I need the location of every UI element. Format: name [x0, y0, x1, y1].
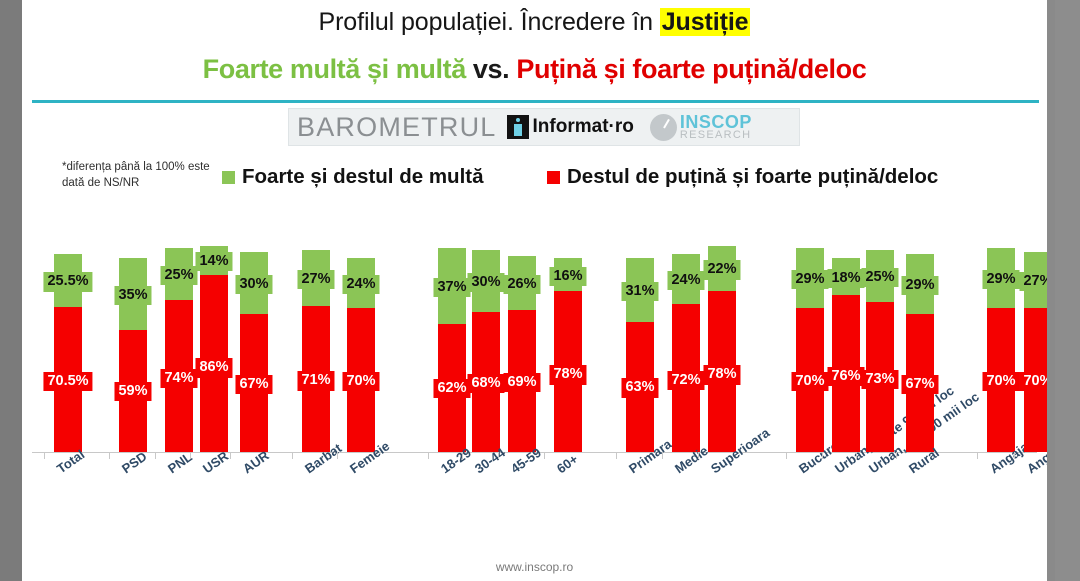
inscop-logo-primary: INSCOP: [680, 114, 752, 131]
value-label-green: 29%: [901, 276, 938, 295]
barometrul-logo-text: BAROMETRUL: [297, 112, 497, 143]
value-label-green: 29%: [982, 270, 1019, 289]
legend-swatch-green-icon: [222, 171, 235, 184]
x-axis-tick: [1014, 452, 1015, 459]
legend-item-green[interactable]: Foarte și destul de multă: [222, 165, 484, 189]
value-label-green: 31%: [621, 282, 658, 301]
value-label-green: 29%: [791, 270, 828, 289]
x-axis-tick: [498, 452, 499, 459]
x-axis-tick: [822, 452, 823, 459]
value-label-red: 70.5%: [43, 372, 92, 391]
x-axis-tick: [896, 452, 897, 459]
value-label-green: 22%: [703, 260, 740, 279]
value-label-red: 78%: [549, 365, 586, 384]
logo-bar: BAROMETRUL Informat·ro INSCOP RESEARCH: [288, 108, 800, 146]
x-axis-tick: [44, 452, 45, 459]
x-axis-tick: [698, 452, 699, 459]
value-label-green: 30%: [467, 273, 504, 292]
value-label-green: 37%: [433, 278, 470, 297]
value-label-red: 59%: [114, 382, 151, 401]
value-label-green: 27%: [297, 270, 334, 289]
value-label-green: 35%: [114, 286, 151, 305]
x-axis-tick: [109, 452, 110, 459]
informat-person-icon: [507, 115, 529, 139]
value-label-red: 67%: [901, 375, 938, 394]
page-title-highlight: Justiție: [660, 8, 751, 36]
value-label-red: 71%: [297, 371, 334, 390]
x-axis-tick: [616, 452, 617, 459]
value-label-red: 70%: [1019, 372, 1047, 391]
subtitle-vs-text: vs.: [473, 54, 509, 84]
value-label-red: 74%: [160, 369, 197, 388]
footer-url: www.inscop.ro: [22, 560, 1047, 574]
chart-plot-area: 25.5%70.5%Total35%59%PSD25%74%PNL14%86%U…: [22, 196, 1047, 526]
value-label-red: 70%: [982, 372, 1019, 391]
value-label-green: 25%: [160, 266, 197, 285]
value-label-red: 70%: [342, 372, 379, 391]
inscop-circle-icon: [650, 114, 677, 141]
x-axis-tick: [337, 452, 338, 459]
screenshot-root: Profilul populației. Încredere în Justiț…: [0, 0, 1080, 581]
legend-swatch-red-icon: [547, 171, 560, 184]
header-divider: [32, 100, 1039, 103]
x-axis-tick: [155, 452, 156, 459]
inscop-logo-words: INSCOP RESEARCH: [680, 114, 752, 141]
value-label-green: 24%: [667, 271, 704, 290]
informat-logo-text: Informat·ro: [533, 116, 634, 138]
value-label-red: 78%: [703, 365, 740, 384]
inscop-logo: INSCOP RESEARCH: [650, 114, 752, 141]
value-label-green: 30%: [235, 275, 272, 294]
value-label-green: 25%: [861, 268, 898, 287]
value-label-green: 14%: [195, 252, 232, 271]
x-axis-tick: [292, 452, 293, 459]
legend-label-red: Destul de puțină și foarte puțină/deloc: [567, 165, 938, 189]
value-label-red: 68%: [467, 374, 504, 393]
inscop-logo-secondary: RESEARCH: [680, 130, 752, 140]
value-label-red: 72%: [667, 371, 704, 390]
value-label-red: 67%: [235, 375, 272, 394]
page-subtitle: Foarte multă și multă vs. Puțină și foar…: [22, 54, 1047, 85]
subtitle-red-text: Puțină și foarte puțină/deloc: [516, 54, 866, 84]
subtitle-green-text: Foarte multă și multă: [203, 54, 466, 84]
bar-usr[interactable]: [200, 246, 228, 452]
value-label-green: 26%: [503, 275, 540, 294]
value-label-green: 24%: [342, 275, 379, 294]
value-label-red: 73%: [861, 370, 898, 389]
informat-logo: Informat·ro: [507, 115, 634, 139]
x-axis-tick: [462, 452, 463, 459]
legend-item-red[interactable]: Destul de puțină și foarte puțină/deloc: [547, 165, 938, 189]
x-axis-tick: [856, 452, 857, 459]
legend-label-green: Foarte și destul de multă: [242, 165, 484, 189]
value-label-green: 18%: [827, 269, 864, 288]
value-label-green: 27%: [1019, 272, 1047, 291]
x-axis-tick: [190, 452, 191, 459]
chart-legend: Foarte și destul de multă Destul de puți…: [222, 165, 1012, 193]
x-axis-tick: [977, 452, 978, 459]
left-gutter: [0, 0, 22, 581]
value-label-green: 25.5%: [43, 272, 92, 291]
slide-canvas: Profilul populației. Încredere în Justiț…: [22, 0, 1047, 581]
value-label-red: 63%: [621, 378, 658, 397]
value-label-red: 69%: [503, 373, 540, 392]
x-axis-tick: [428, 452, 429, 459]
x-axis-tick: [662, 452, 663, 459]
x-axis-tick: [786, 452, 787, 459]
value-label-red: 86%: [195, 358, 232, 377]
page-title-prefix: Profilul populației. Încredere în: [319, 8, 660, 36]
footnote-ns-nr: *diferența până la 100% este dată de NS/…: [62, 160, 232, 191]
x-axis-tick: [544, 452, 545, 459]
value-label-red: 70%: [791, 372, 828, 391]
value-label-red: 62%: [433, 379, 470, 398]
bar-60[interactable]: [554, 258, 582, 452]
x-axis-tick: [230, 452, 231, 459]
value-label-green: 16%: [549, 267, 586, 286]
value-label-red: 76%: [827, 367, 864, 386]
page-title: Profilul populației. Încredere în Justiț…: [22, 8, 1047, 37]
x-axis-label: 60+: [554, 451, 581, 476]
vertical-scrollbar-track[interactable]: [1055, 0, 1080, 581]
